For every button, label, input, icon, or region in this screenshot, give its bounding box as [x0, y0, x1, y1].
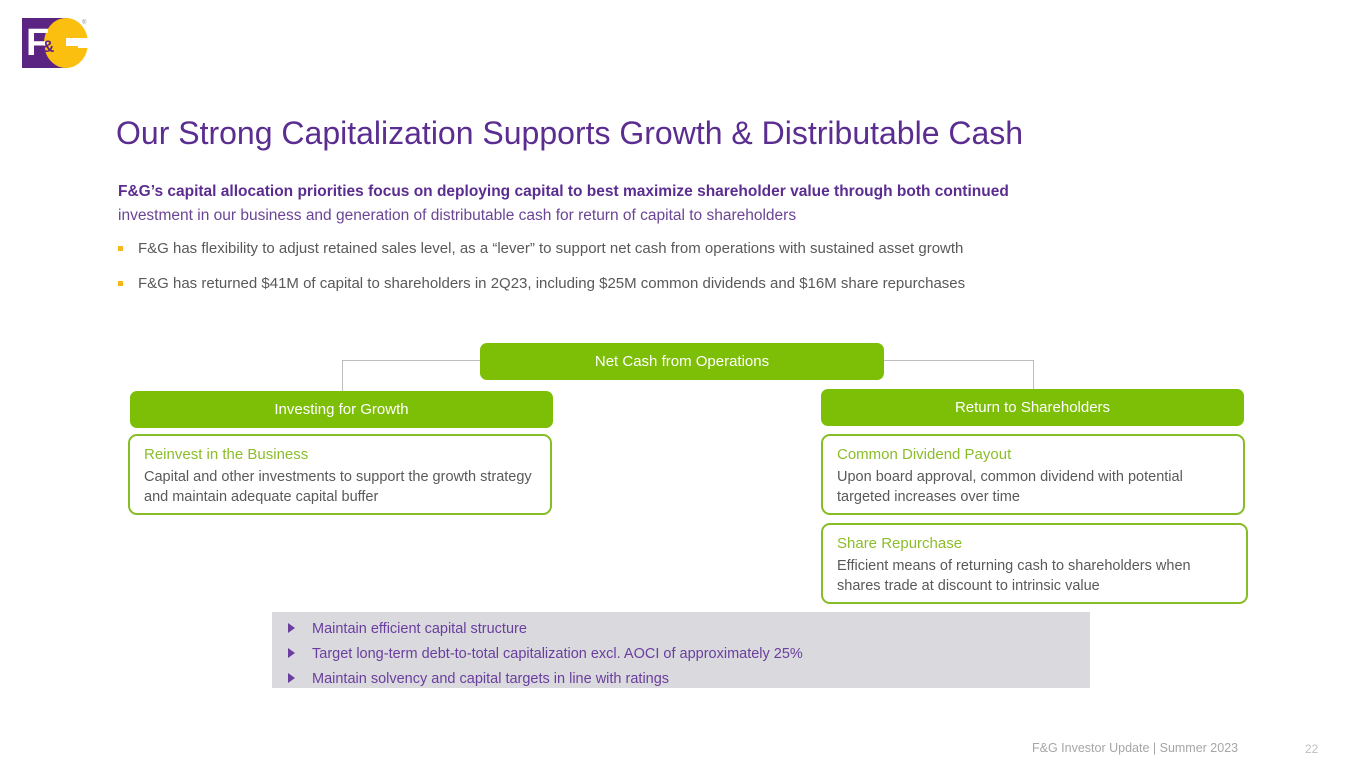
diagram-card-share-repurchase: Share Repurchase Efficient means of retu…: [821, 523, 1248, 604]
card-body: Upon board approval, common dividend wit…: [837, 467, 1229, 507]
card-heading: Reinvest in the Business: [144, 444, 536, 465]
triangle-bullet-icon: [288, 623, 295, 633]
fg-logo: F & ®: [22, 18, 88, 68]
logo-g-bar: [66, 46, 78, 60]
triangle-bullet-icon: [288, 648, 295, 658]
key-bullet-item: F&G has returned $41M of capital to shar…: [118, 273, 1298, 294]
registered-trademark-icon: ®: [82, 20, 86, 26]
page-title: Our Strong Capitalization Supports Growt…: [116, 113, 1296, 153]
square-bullet-icon: [118, 246, 123, 251]
diagram-node-net-cash-from-operations: Net Cash from Operations: [480, 343, 884, 380]
panel-list-item: Target long-term debt-to-total capitaliz…: [288, 644, 803, 664]
key-bullet-text: F&G has flexibility to adjust retained s…: [138, 238, 1298, 259]
card-heading: Share Repurchase: [837, 533, 1232, 554]
key-bullet-text: F&G has returned $41M of capital to shar…: [138, 273, 1298, 294]
diagram-card-reinvest-in-the-business: Reinvest in the Business Capital and oth…: [128, 434, 552, 515]
connector-line-left-horizontal: [342, 360, 488, 361]
card-body: Efficient means of returning cash to sha…: [837, 556, 1232, 596]
panel-list-item-text: Maintain solvency and capital targets in…: [312, 669, 669, 689]
logo-ampersand: &: [42, 38, 54, 55]
connector-line-right-horizontal: [878, 360, 1034, 361]
key-bullet-item: F&G has flexibility to adjust retained s…: [118, 238, 1298, 259]
panel-list-item-text: Target long-term debt-to-total capitaliz…: [312, 644, 803, 664]
triangle-bullet-icon: [288, 673, 295, 683]
footer-label: F&G Investor Update | Summer 2023: [1032, 740, 1238, 756]
subtitle-bold-line: F&G’s capital allocation priorities focu…: [118, 181, 1278, 202]
subtitle-regular-line: investment in our business and generatio…: [118, 205, 1278, 226]
panel-list-item-text: Maintain efficient capital structure: [312, 619, 527, 639]
diagram-node-return-to-shareholders: Return to Shareholders: [821, 389, 1244, 426]
square-bullet-icon: [118, 281, 123, 286]
diagram-card-common-dividend-payout: Common Dividend Payout Upon board approv…: [821, 434, 1245, 515]
panel-list-item: Maintain solvency and capital targets in…: [288, 669, 669, 689]
panel-list-item: Maintain efficient capital structure: [288, 619, 527, 639]
diagram-node-investing-for-growth: Investing for Growth: [130, 391, 553, 428]
capital-targets-panel: Maintain efficient capital structure Tar…: [272, 612, 1090, 688]
card-heading: Common Dividend Payout: [837, 444, 1229, 465]
card-body: Capital and other investments to support…: [144, 467, 536, 507]
page-number: 22: [1305, 741, 1318, 757]
